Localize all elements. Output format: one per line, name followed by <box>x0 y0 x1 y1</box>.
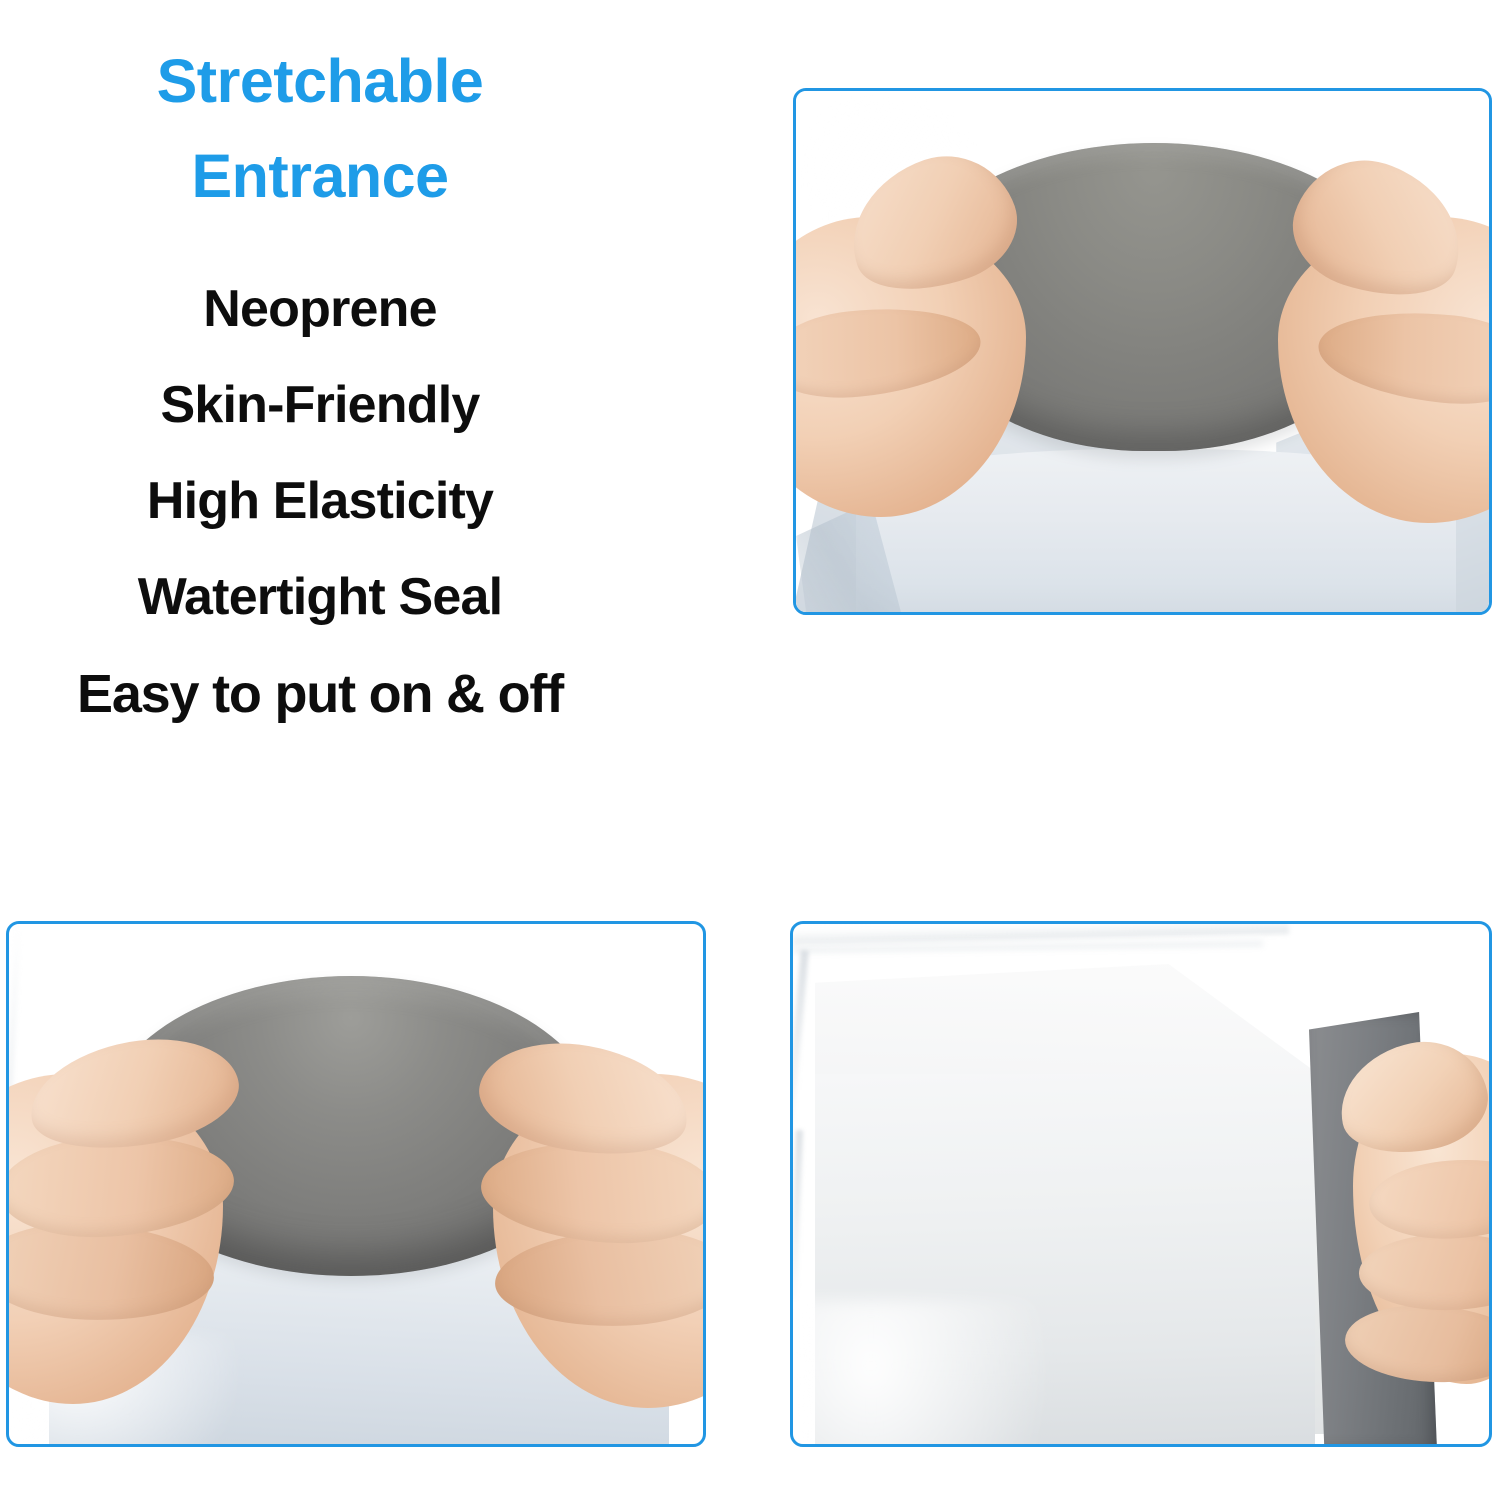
feature-item-watertight-seal: Watertight Seal <box>0 571 640 623</box>
cover-highlight <box>793 1300 1053 1447</box>
feature-item-skin-friendly: Skin-Friendly <box>0 379 640 431</box>
feature-item-neoprene: Neoprene <box>0 283 640 335</box>
product-photo-collar-stretch <box>793 88 1492 615</box>
feature-text-column: Stretchable Entrance Neoprene Skin-Frien… <box>0 34 640 721</box>
feature-item-high-elasticity: High Elasticity <box>0 475 640 527</box>
cover-seam <box>790 950 809 1130</box>
photo-scene <box>793 924 1489 1444</box>
photo-scene <box>796 91 1489 612</box>
headline-line-1: Stretchable <box>0 34 640 129</box>
cover-seam <box>790 1130 803 1300</box>
headline-line-2: Entrance <box>0 129 640 224</box>
photo-scene <box>9 924 703 1444</box>
product-photo-ring-stretch <box>6 921 706 1447</box>
product-photo-cover-held <box>790 921 1492 1447</box>
feature-item-easy-on-off: Easy to put on & off <box>0 667 640 721</box>
